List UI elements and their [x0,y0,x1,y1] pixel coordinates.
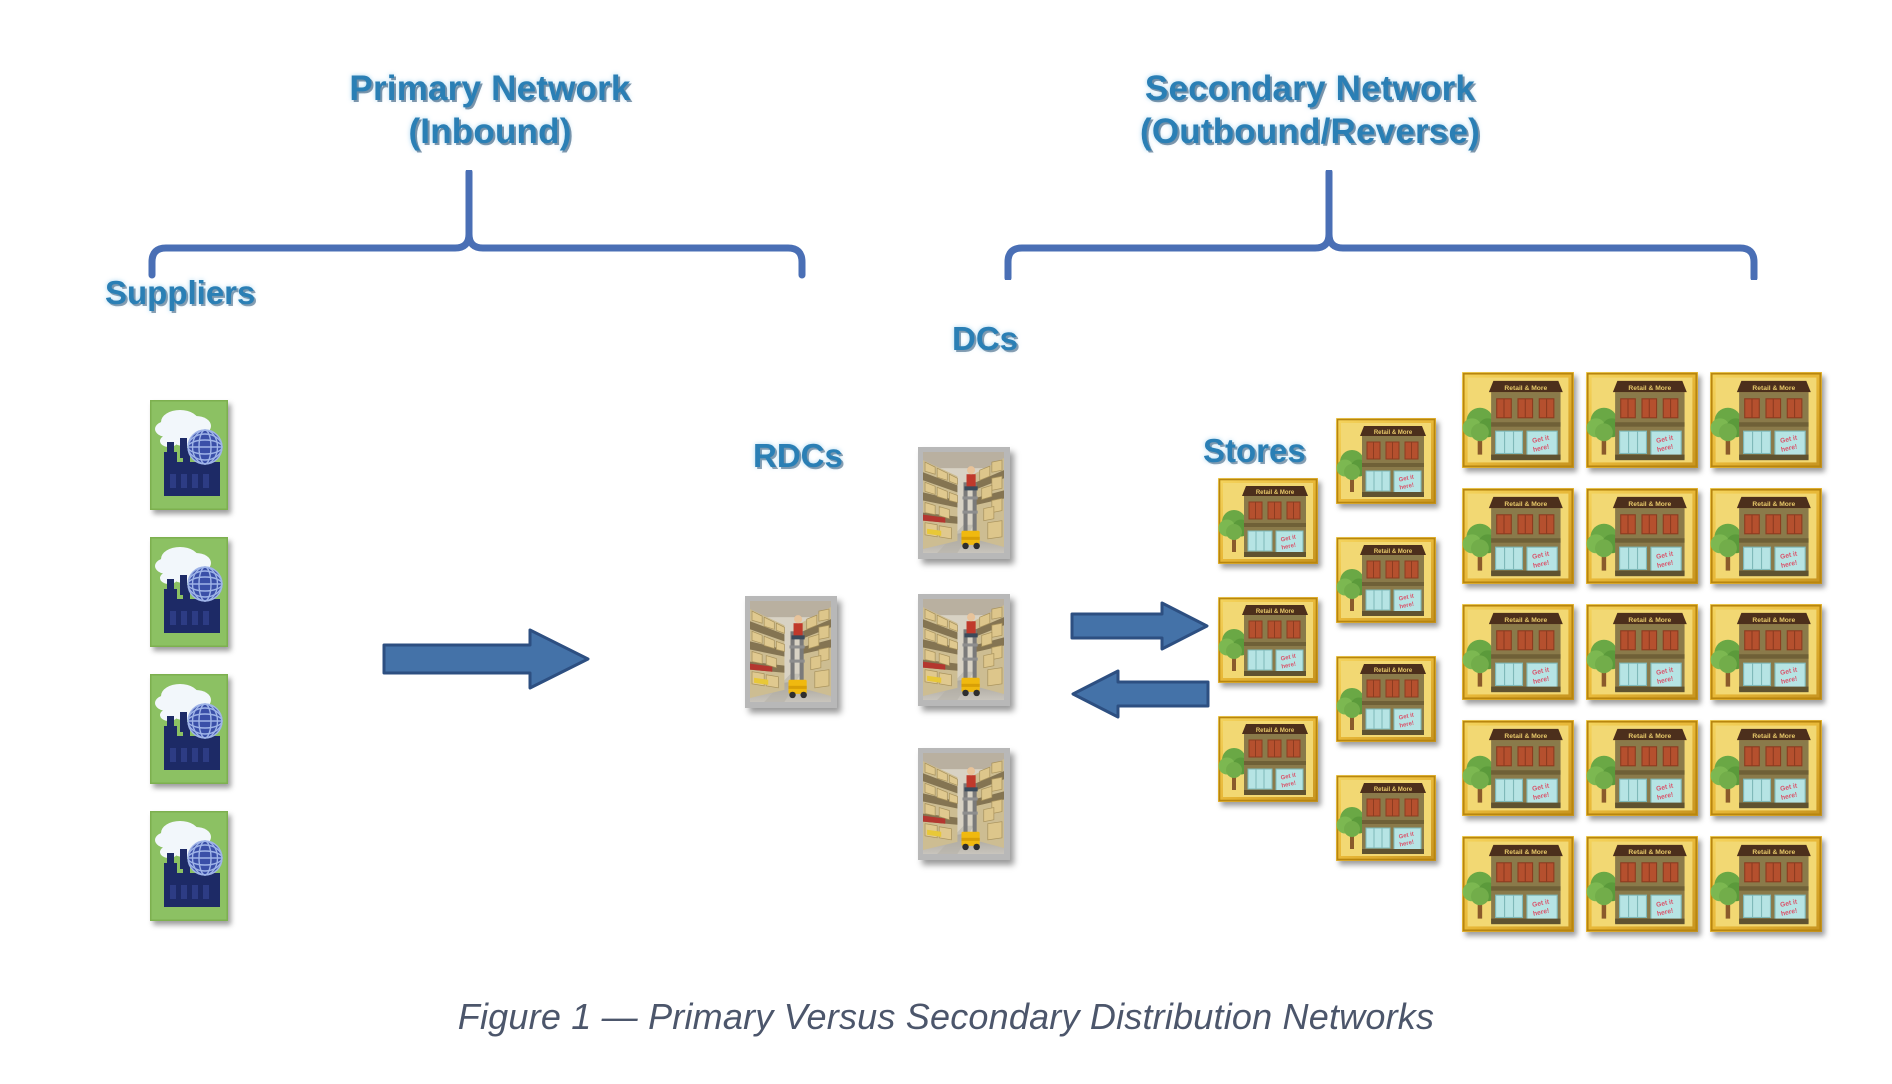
svg-text:Retail & More: Retail & More [1504,617,1547,624]
svg-text:Retail & More: Retail & More [1628,849,1671,856]
svg-text:Retail & More: Retail & More [1504,733,1547,740]
svg-text:Retail & More: Retail & More [1752,501,1795,508]
arrow-stores-to-dc [1070,668,1210,720]
store-icon[interactable]: Retail & More Get it here! [1218,597,1318,683]
store-icon[interactable]: Retail & More Get it here! [1710,488,1822,584]
label-suppliers: Suppliers [105,274,255,312]
svg-text:Retail & More: Retail & More [1504,849,1547,856]
store-icon[interactable]: Retail & More Get it here! [1462,720,1574,816]
svg-text:Retail & More: Retail & More [1752,733,1795,740]
store-icon[interactable]: Retail & More Get it here! [1710,836,1822,932]
svg-text:Retail & More: Retail & More [1752,849,1795,856]
diagram-canvas: Primary Network (Inbound) Secondary Netw… [0,0,1892,1084]
svg-text:Retail & More: Retail & More [1504,501,1547,508]
store-icon[interactable]: Retail & More Get it here! [1336,775,1436,861]
heading-secondary-network: Secondary Network (Outbound/Reverse) [1080,68,1540,153]
store-icon[interactable]: Retail & More Get it here! [1586,836,1698,932]
store-icon[interactable]: Retail & More Get it here! [1218,716,1318,802]
store-icon[interactable]: Retail & More Get it here! [1710,372,1822,468]
store-icon[interactable]: Retail & More Get it here! [1586,372,1698,468]
heading-primary-network: Primary Network (Inbound) [280,68,700,153]
svg-text:Retail & More: Retail & More [1374,668,1413,674]
svg-text:Retail & More: Retail & More [1256,609,1295,615]
rdc-icon[interactable] [745,596,837,708]
svg-text:Retail & More: Retail & More [1374,787,1413,793]
store-icon[interactable]: Retail & More Get it here! [1586,720,1698,816]
svg-text:Retail & More: Retail & More [1374,549,1413,555]
store-icon[interactable]: Retail & More Get it here! [1462,836,1574,932]
svg-text:Retail & More: Retail & More [1752,617,1795,624]
svg-text:Retail & More: Retail & More [1628,733,1671,740]
svg-text:Retail & More: Retail & More [1628,385,1671,392]
svg-text:Retail & More: Retail & More [1628,501,1671,508]
store-icon[interactable]: Retail & More Get it here! [1586,604,1698,700]
supplier-icon[interactable] [150,400,228,510]
heading-primary-line2: (Inbound) [280,111,700,154]
dc-icon[interactable] [918,748,1010,860]
dc-icon[interactable] [918,447,1010,559]
svg-text:Retail & More: Retail & More [1752,385,1795,392]
store-icon[interactable]: Retail & More Get it here! [1336,656,1436,742]
store-icon[interactable]: Retail & More Get it here! [1710,720,1822,816]
store-icon[interactable]: Retail & More Get it here! [1462,372,1574,468]
heading-primary-line1: Primary Network [280,68,700,111]
label-stores: Stores [1203,432,1306,470]
label-dcs: DCs [952,320,1018,358]
store-icon[interactable]: Retail & More Get it here! [1462,604,1574,700]
heading-secondary-line1: Secondary Network [1080,68,1540,111]
svg-text:Retail & More: Retail & More [1628,617,1671,624]
supplier-icon[interactable] [150,811,228,921]
heading-secondary-line2: (Outbound/Reverse) [1080,111,1540,154]
svg-text:Retail & More: Retail & More [1374,430,1413,436]
label-rdcs: RDCs [753,437,843,475]
store-icon[interactable]: Retail & More Get it here! [1710,604,1822,700]
svg-text:Retail & More: Retail & More [1504,385,1547,392]
supplier-icon[interactable] [150,537,228,647]
svg-text:Retail & More: Retail & More [1256,490,1295,496]
supplier-icon[interactable] [150,674,228,784]
brace-primary-network [140,170,990,280]
dc-icon[interactable] [918,594,1010,706]
store-icon[interactable]: Retail & More Get it here! [1336,537,1436,623]
arrow-suppliers-to-rdc [382,627,592,691]
arrow-dc-to-stores [1070,600,1210,652]
store-icon[interactable]: Retail & More Get it here! [1336,418,1436,504]
brace-secondary-network [1000,170,1810,280]
figure-caption: Figure 1 — Primary Versus Secondary Dist… [0,996,1892,1038]
store-icon[interactable]: Retail & More Get it here! [1218,478,1318,564]
store-icon[interactable]: Retail & More Get it here! [1462,488,1574,584]
svg-text:Retail & More: Retail & More [1256,728,1295,734]
store-icon[interactable]: Retail & More Get it here! [1586,488,1698,584]
